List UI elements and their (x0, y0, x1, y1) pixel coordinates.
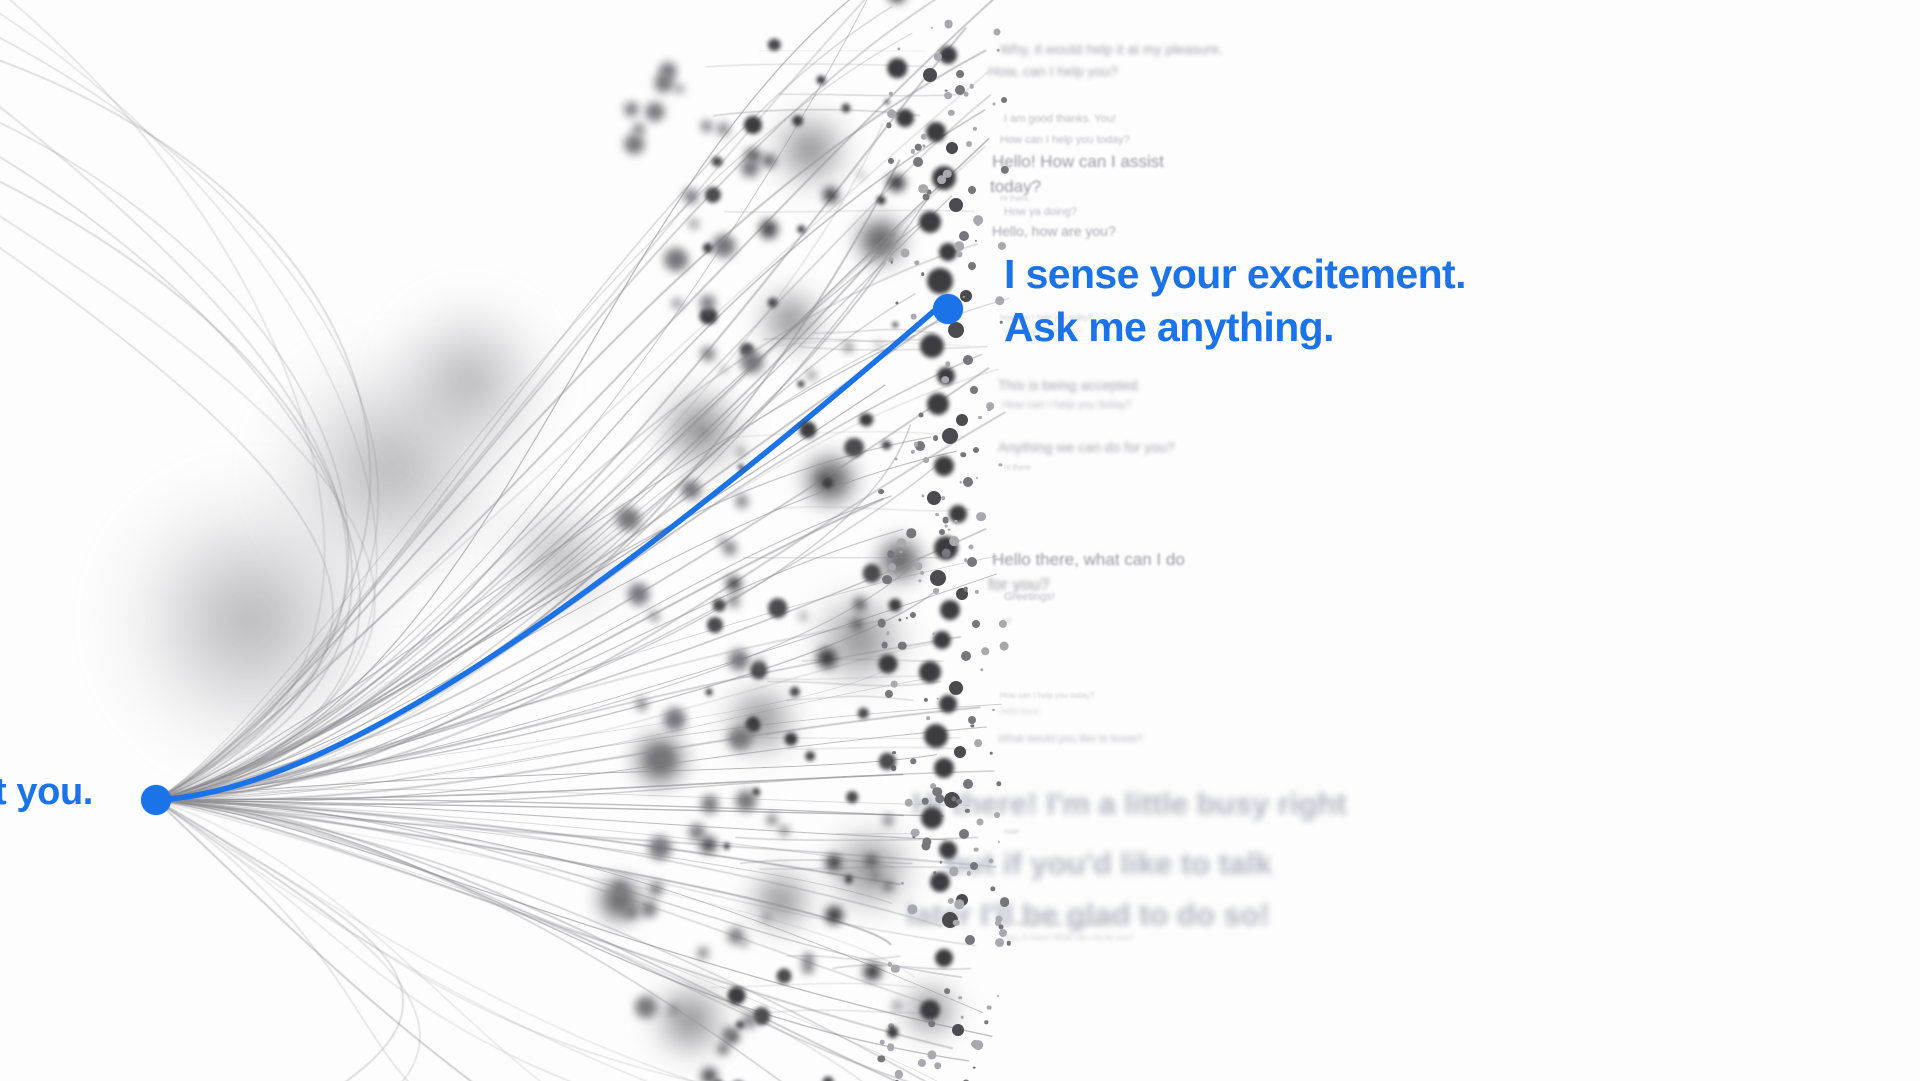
headline-line-2: Ask me anything. (1004, 301, 1466, 354)
headline-line-1: I sense your excitement. (1004, 248, 1466, 301)
left-prompt-caption-text: t you. (0, 771, 93, 813)
headline: I sense your excitement. Ask me anything… (1004, 248, 1466, 354)
foreground-label-layer: t you. I sense your excitement. Ask me a… (0, 0, 1920, 1081)
graph-canvas: Why, it would help it at my pleasure.How… (0, 0, 1920, 1081)
left-prompt-caption: t you. (0, 771, 93, 814)
